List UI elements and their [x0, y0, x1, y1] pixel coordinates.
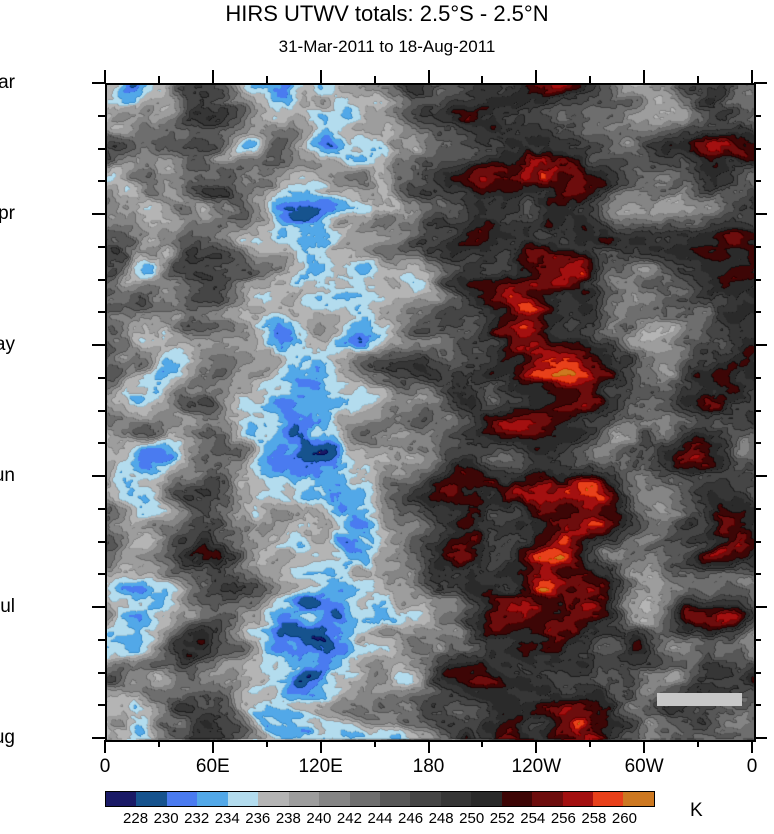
colorbar-label-11: 250 [459, 810, 484, 828]
colorbar-swatch-5 [258, 792, 288, 806]
x-axis-label-3: 180 [413, 756, 445, 778]
hovmoller-figure: HIRS UTWV totals: 2.5°S - 2.5°N 31-Mar-2… [0, 0, 774, 834]
colorbar-swatch-13 [502, 792, 532, 806]
x-tick-major-2 [320, 740, 322, 753]
colorbar-label-13: 254 [520, 810, 545, 828]
y-tick-right-minor-6 [754, 311, 761, 313]
y-axis-label-5: 18-Aug [0, 727, 15, 749]
y-tick-right-major-2 [754, 344, 767, 346]
page-title: HIRS UTWV totals: 2.5°S - 2.5°N [0, 1, 774, 27]
y-tick-minor-2 [98, 180, 105, 182]
y-tick-right-minor-0 [754, 115, 761, 117]
y-tick-right-minor-12 [754, 508, 761, 510]
y-tick-right-minor-5 [754, 279, 761, 281]
colorbar-label-9: 246 [398, 810, 423, 828]
x-tick-minor-3 [481, 740, 483, 747]
y-tick-right-major-1 [754, 213, 767, 215]
colorbar-swatch-15 [563, 792, 593, 806]
y-tick-major-0 [92, 82, 105, 84]
x-tick-minor-5 [697, 740, 699, 747]
y-tick-right-minor-18 [754, 704, 761, 706]
y-axis-label-1: 28-Apr [0, 203, 15, 225]
x-tick-major-5 [643, 740, 645, 753]
y-tick-right-minor-4 [754, 246, 761, 248]
colorbar-swatch-3 [197, 792, 227, 806]
colorbar-swatch-6 [289, 792, 319, 806]
colorbar-swatch-9 [380, 792, 410, 806]
colorbar-swatch-10 [410, 792, 440, 806]
y-tick-major-1 [92, 213, 105, 215]
x-tick-top-major-4 [535, 70, 537, 83]
x-tick-minor-1 [266, 740, 268, 747]
x-axis-label-1: 60E [196, 756, 230, 778]
x-axis-label-6: 0 [747, 756, 758, 778]
colorbar-swatch-12 [471, 792, 501, 806]
y-axis-label-0: 31-Mar [0, 72, 15, 94]
x-tick-top-minor-5 [697, 76, 699, 83]
y-tick-right-minor-13 [754, 541, 761, 543]
x-tick-minor-0 [158, 740, 160, 747]
y-tick-right-minor-1 [754, 148, 761, 150]
colorbar-swatch-7 [319, 792, 349, 806]
colorbar-swatch-16 [593, 792, 623, 806]
y-tick-minor-14 [98, 573, 105, 575]
colorbar-swatch-17 [623, 792, 653, 806]
y-tick-minor-9 [98, 410, 105, 412]
colorbar-label-2: 232 [184, 810, 209, 828]
x-tick-major-3 [428, 740, 430, 753]
x-tick-major-0 [104, 740, 106, 753]
x-axis-label-4: 120W [512, 756, 562, 778]
y-tick-right-major-4 [754, 606, 767, 608]
x-tick-minor-4 [589, 740, 591, 747]
x-tick-top-minor-1 [266, 76, 268, 83]
y-tick-right-minor-9 [754, 410, 761, 412]
x-tick-top-minor-3 [481, 76, 483, 83]
x-axis-label-0: 0 [100, 756, 111, 778]
colorbar-label-4: 236 [245, 810, 270, 828]
y-tick-right-minor-16 [754, 639, 761, 641]
x-axis-label-5: 60W [625, 756, 664, 778]
x-tick-major-1 [212, 740, 214, 753]
colorbar-swatch-1 [136, 792, 166, 806]
y-tick-minor-1 [98, 148, 105, 150]
y-tick-right-minor-8 [754, 377, 761, 379]
y-tick-right-major-5 [754, 737, 767, 739]
y-tick-major-5 [92, 737, 105, 739]
colorbar-unit-label: K [690, 800, 703, 822]
x-tick-top-major-2 [320, 70, 322, 83]
colorbar-label-0: 228 [123, 810, 148, 828]
x-axis-label-2: 120E [298, 756, 342, 778]
x-tick-top-major-6 [751, 70, 753, 83]
x-tick-top-major-3 [428, 70, 430, 83]
y-tick-minor-17 [98, 672, 105, 674]
y-tick-major-2 [92, 344, 105, 346]
y-tick-minor-13 [98, 541, 105, 543]
colorbar-label-10: 248 [429, 810, 454, 828]
colorbar-label-8: 244 [367, 810, 392, 828]
colorbar-label-12: 252 [490, 810, 515, 828]
y-tick-minor-10 [98, 442, 105, 444]
x-tick-top-minor-2 [374, 76, 376, 83]
y-tick-minor-5 [98, 279, 105, 281]
y-tick-minor-8 [98, 377, 105, 379]
colorbar-label-5: 238 [276, 810, 301, 828]
y-tick-minor-0 [98, 115, 105, 117]
colorbar-swatch-8 [350, 792, 380, 806]
x-tick-top-major-5 [643, 70, 645, 83]
colorbar-swatch-4 [228, 792, 258, 806]
colorbar-label-16: 260 [612, 810, 637, 828]
colorbar-swatch-11 [441, 792, 471, 806]
y-tick-right-minor-17 [754, 672, 761, 674]
y-tick-minor-16 [98, 639, 105, 641]
y-tick-major-4 [92, 606, 105, 608]
colorbar-label-14: 256 [551, 810, 576, 828]
y-tick-right-minor-14 [754, 573, 761, 575]
y-tick-minor-6 [98, 311, 105, 313]
y-axis-label-3: 23-Jun [0, 465, 15, 487]
colorbar [105, 791, 655, 807]
colorbar-label-6: 240 [306, 810, 331, 828]
hovmoller-heatmap [107, 85, 754, 740]
colorbar-swatch-2 [167, 792, 197, 806]
x-tick-top-major-1 [212, 70, 214, 83]
y-tick-right-minor-10 [754, 442, 761, 444]
colorbar-swatch-14 [532, 792, 562, 806]
x-tick-major-4 [535, 740, 537, 753]
colorbar-label-7: 242 [337, 810, 362, 828]
colorbar-label-1: 230 [154, 810, 179, 828]
x-tick-top-minor-4 [589, 76, 591, 83]
plot-area [105, 83, 756, 742]
x-tick-minor-2 [374, 740, 376, 747]
colorbar-label-15: 258 [581, 810, 606, 828]
colorbar-label-3: 234 [215, 810, 240, 828]
colorbar-swatch-0 [106, 792, 136, 806]
y-axis-label-4: 21-Jul [0, 596, 15, 618]
y-tick-major-3 [92, 475, 105, 477]
y-tick-minor-12 [98, 508, 105, 510]
data-gap-patch [657, 693, 742, 706]
y-tick-right-minor-2 [754, 180, 761, 182]
figure-subtitle: 31-Mar-2011 to 18-Aug-2011 [0, 37, 774, 57]
y-tick-minor-4 [98, 246, 105, 248]
x-tick-major-6 [751, 740, 753, 753]
x-tick-top-minor-0 [158, 76, 160, 83]
y-tick-right-major-3 [754, 475, 767, 477]
y-tick-minor-18 [98, 704, 105, 706]
y-axis-label-2: 26-May [0, 334, 15, 356]
y-tick-right-major-0 [754, 82, 767, 84]
